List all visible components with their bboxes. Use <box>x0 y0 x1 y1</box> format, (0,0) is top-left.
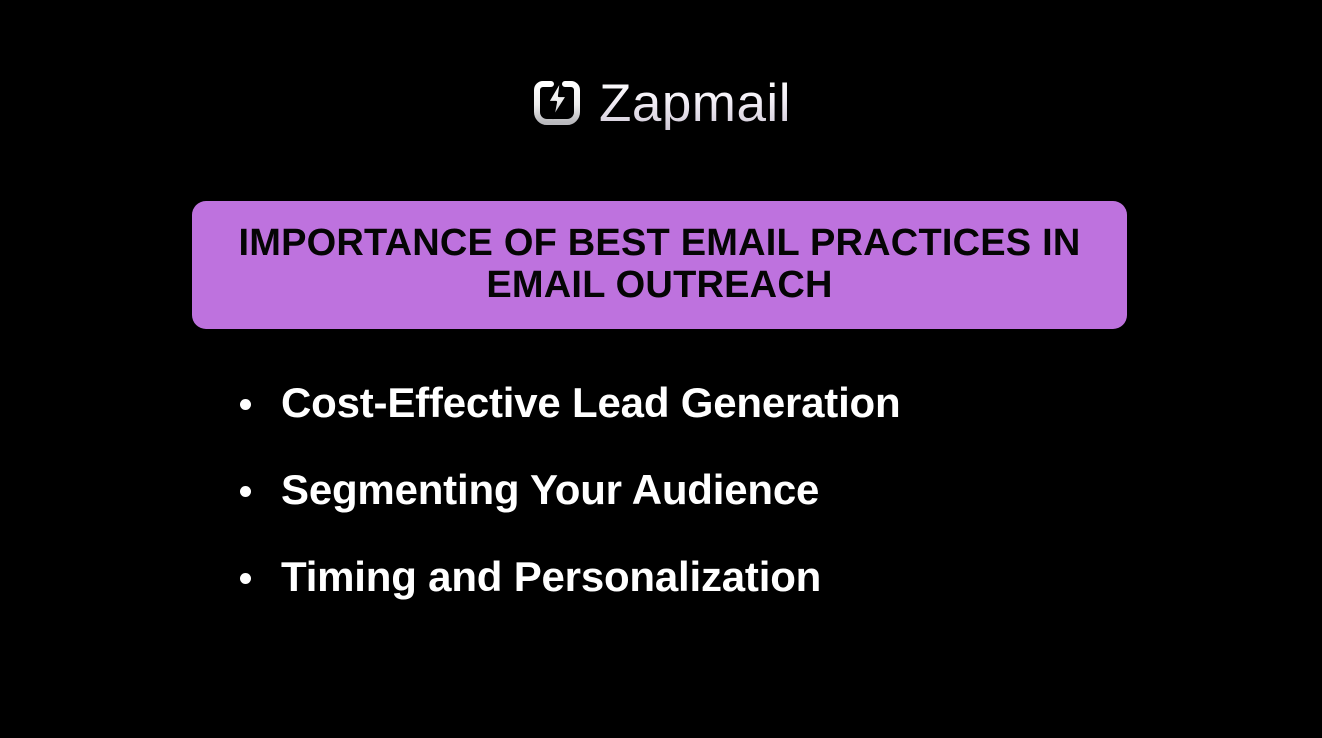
list-item: Cost-Effective Lead Generation <box>240 378 1140 465</box>
bullet-dot-icon <box>240 486 251 497</box>
list-item-label: Timing and Personalization <box>281 552 821 602</box>
bullet-dot-icon <box>240 573 251 584</box>
key-points-list: Cost-Effective Lead Generation Segmentin… <box>240 378 1140 639</box>
brand-logo: Zapmail <box>0 64 1322 142</box>
list-item: Segmenting Your Audience <box>240 465 1140 552</box>
list-item: Timing and Personalization <box>240 552 1140 639</box>
brand-name: Zapmail <box>599 77 791 130</box>
zapmail-bolt-icon <box>531 78 583 130</box>
title-banner: IMPORTANCE OF BEST EMAIL PRACTICES IN EM… <box>192 201 1127 329</box>
bullet-dot-icon <box>240 399 251 410</box>
list-item-label: Segmenting Your Audience <box>281 465 819 515</box>
page-title: IMPORTANCE OF BEST EMAIL PRACTICES IN EM… <box>212 223 1107 307</box>
list-item-label: Cost-Effective Lead Generation <box>281 378 900 428</box>
slide-canvas: Zapmail IMPORTANCE OF BEST EMAIL PRACTIC… <box>0 0 1322 738</box>
